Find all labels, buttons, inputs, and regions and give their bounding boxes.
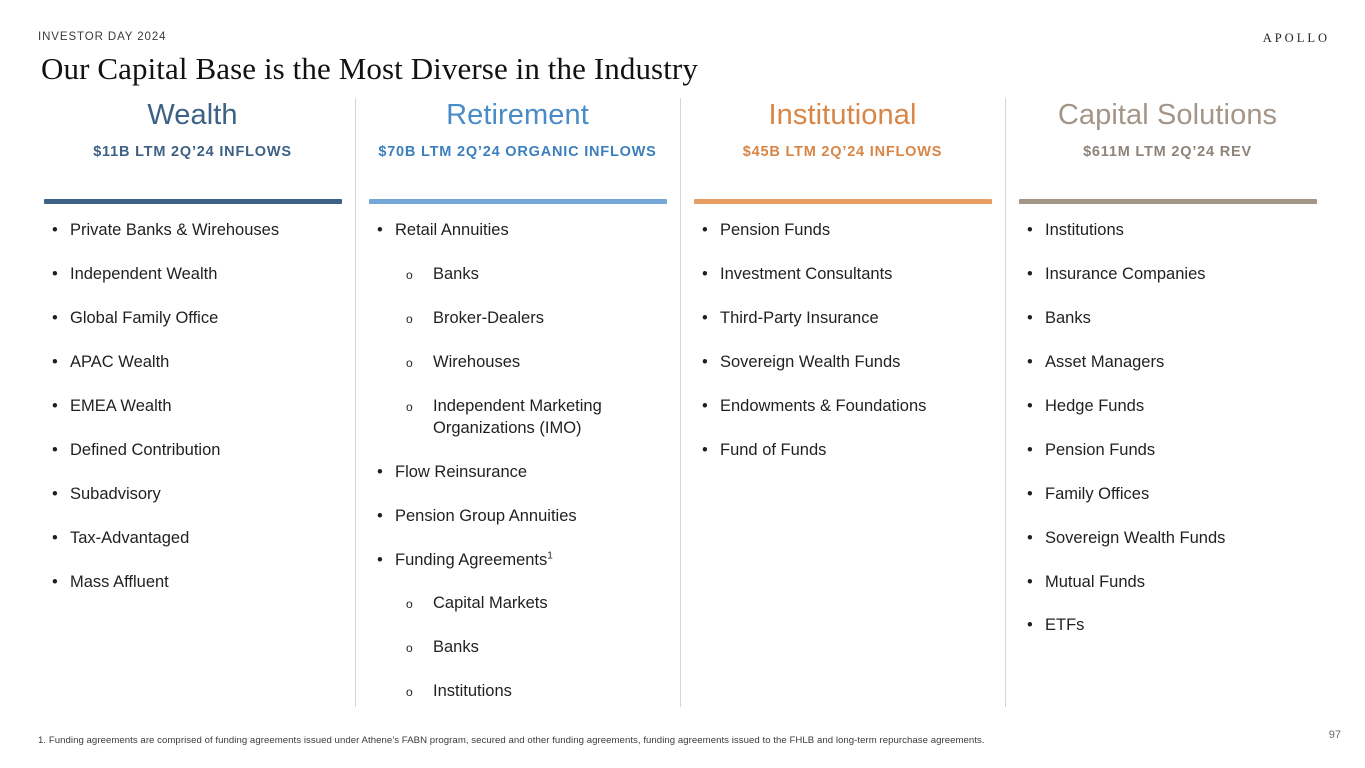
list-item: •Private Banks & Wirehouses — [38, 220, 347, 242]
list-item: •Mutual Funds — [1013, 572, 1322, 594]
sub-bullet-icon: o — [406, 682, 413, 704]
list-item: •Investment Consultants — [688, 264, 997, 286]
list-item-label: Insurance Companies — [1045, 265, 1206, 283]
list-item: •Retail Annuities — [363, 220, 672, 242]
column-capital-solutions: Capital Solutions$611M LTM 2Q’24 REV•Ins… — [1005, 98, 1330, 713]
list-item-label: Pension Funds — [720, 221, 830, 239]
list-item-label: Funding Agreements — [395, 551, 547, 569]
slide: INVESTOR DAY 2024 APOLLO Our Capital Bas… — [0, 0, 1365, 768]
sub-bullet-icon: o — [406, 265, 413, 287]
list-item-label: Investment Consultants — [720, 265, 892, 283]
bullet-icon: • — [702, 396, 708, 418]
list-item: oBanks — [363, 264, 672, 286]
list-item: •Sovereign Wealth Funds — [688, 352, 997, 374]
list-item-label: Hedge Funds — [1045, 397, 1144, 415]
list-item-label: Mass Affluent — [70, 573, 169, 591]
bullet-icon: • — [1027, 396, 1033, 418]
list-item: oBanks — [363, 637, 672, 659]
list-item-label: Banks — [1045, 309, 1091, 327]
bullet-icon: • — [52, 352, 58, 374]
column-header-wealth: Wealth$11B LTM 2Q’24 INFLOWS — [38, 98, 347, 204]
bullet-icon: • — [1027, 615, 1033, 637]
list-item-label: Retail Annuities — [395, 221, 509, 239]
page-number: 97 — [1329, 729, 1341, 741]
list-item-label: Sovereign Wealth Funds — [1045, 529, 1225, 547]
list-item-label: Banks — [433, 265, 479, 283]
column-header-institutional: Institutional$45B LTM 2Q’24 INFLOWS — [688, 98, 997, 204]
bullet-icon: • — [1027, 528, 1033, 550]
sub-bullet-icon: o — [406, 638, 413, 660]
column-list-capital-solutions: •Institutions•Insurance Companies•Banks•… — [1013, 220, 1322, 637]
list-item: •Tax-Advantaged — [38, 528, 347, 550]
column-rule-institutional — [694, 199, 992, 204]
bullet-icon: • — [52, 264, 58, 286]
list-item: •Endowments & Foundations — [688, 396, 997, 418]
list-item-label: Institutions — [1045, 221, 1124, 239]
list-item-label: APAC Wealth — [70, 353, 169, 371]
bullet-icon: • — [377, 220, 383, 242]
list-item: •Banks — [1013, 308, 1322, 330]
apollo-logo: APOLLO — [1263, 31, 1330, 46]
bullet-icon: • — [702, 352, 708, 374]
list-item: •Pension Funds — [1013, 440, 1322, 462]
list-item: •Asset Managers — [1013, 352, 1322, 374]
list-item-label: Broker-Dealers — [433, 309, 544, 327]
list-item-label: Institutions — [433, 682, 512, 700]
list-item: •Defined Contribution — [38, 440, 347, 462]
list-item: •Funding Agreements1 — [363, 550, 672, 572]
column-list-retirement: •Retail AnnuitiesoBanksoBroker-DealersoW… — [363, 220, 672, 703]
sub-bullet-icon: o — [406, 353, 413, 375]
list-item-label: Banks — [433, 638, 479, 656]
bullet-icon: • — [1027, 308, 1033, 330]
list-item-label: Wirehouses — [433, 353, 520, 371]
bullet-icon: • — [702, 220, 708, 242]
bullet-icon: • — [1027, 572, 1033, 594]
list-item-label: Capital Markets — [433, 594, 548, 612]
bullet-icon: • — [702, 440, 708, 462]
list-item: •Flow Reinsurance — [363, 462, 672, 484]
list-item: oBroker-Dealers — [363, 308, 672, 330]
list-item: •Independent Wealth — [38, 264, 347, 286]
column-title-institutional: Institutional — [688, 98, 997, 132]
bullet-icon: • — [377, 506, 383, 528]
bullet-icon: • — [52, 440, 58, 462]
bullet-icon: • — [377, 550, 383, 572]
sub-bullet-icon: o — [406, 594, 413, 616]
list-item-label: Third-Party Insurance — [720, 309, 879, 327]
list-item-label: Family Offices — [1045, 485, 1149, 503]
list-item: •Family Offices — [1013, 484, 1322, 506]
list-item: •APAC Wealth — [38, 352, 347, 374]
list-item: oIndependent Marketing Organizations (IM… — [363, 396, 672, 440]
column-rule-wealth — [44, 199, 342, 204]
list-item: •Sovereign Wealth Funds — [1013, 528, 1322, 550]
bullet-icon: • — [1027, 220, 1033, 242]
footnote-marker: 1 — [547, 550, 553, 561]
list-item: •Fund of Funds — [688, 440, 997, 462]
list-item-label: Independent Marketing Organizations (IMO… — [433, 397, 602, 437]
bullet-icon: • — [52, 308, 58, 330]
page-title: Our Capital Base is the Most Diverse in … — [41, 51, 698, 87]
columns-container: Wealth$11B LTM 2Q’24 INFLOWS•Private Ban… — [30, 98, 1335, 713]
column-institutional: Institutional$45B LTM 2Q’24 INFLOWS•Pens… — [680, 98, 1005, 713]
list-item-label: Tax-Advantaged — [70, 529, 189, 547]
list-item: •Institutions — [1013, 220, 1322, 242]
column-metric-institutional: $45B LTM 2Q’24 INFLOWS — [688, 144, 997, 162]
list-item-label: Flow Reinsurance — [395, 463, 527, 481]
column-title-capital-solutions: Capital Solutions — [1013, 98, 1322, 132]
column-header-capital-solutions: Capital Solutions$611M LTM 2Q’24 REV — [1013, 98, 1322, 204]
column-rule-capital-solutions — [1019, 199, 1317, 204]
list-item: •Hedge Funds — [1013, 396, 1322, 418]
list-item-label: ETFs — [1045, 616, 1084, 634]
list-item: •Insurance Companies — [1013, 264, 1322, 286]
bullet-icon: • — [1027, 484, 1033, 506]
bullet-icon: • — [52, 528, 58, 550]
list-item-label: Independent Wealth — [70, 265, 217, 283]
list-item: oInstitutions — [363, 681, 672, 703]
column-title-retirement: Retirement — [363, 98, 672, 132]
bullet-icon: • — [1027, 440, 1033, 462]
sub-bullet-icon: o — [406, 397, 413, 419]
column-retirement: Retirement$70B LTM 2Q’24 ORGANIC INFLOWS… — [355, 98, 680, 713]
bullet-icon: • — [52, 220, 58, 242]
sub-bullet-icon: o — [406, 309, 413, 331]
column-wealth: Wealth$11B LTM 2Q’24 INFLOWS•Private Ban… — [30, 98, 355, 713]
list-item: •Global Family Office — [38, 308, 347, 330]
column-title-wealth: Wealth — [38, 98, 347, 132]
column-metric-wealth: $11B LTM 2Q’24 INFLOWS — [38, 144, 347, 162]
list-item-label: EMEA Wealth — [70, 397, 172, 415]
column-list-institutional: •Pension Funds•Investment Consultants•Th… — [688, 220, 997, 462]
bullet-icon: • — [702, 264, 708, 286]
column-rule-retirement — [369, 199, 667, 204]
list-item-label: Private Banks & Wirehouses — [70, 221, 279, 239]
column-header-retirement: Retirement$70B LTM 2Q’24 ORGANIC INFLOWS — [363, 98, 672, 204]
bullet-icon: • — [377, 462, 383, 484]
bullet-icon: • — [1027, 264, 1033, 286]
footnote-text: 1. Funding agreements are comprised of f… — [38, 735, 985, 746]
list-item: oCapital Markets — [363, 593, 672, 615]
list-item: •Subadvisory — [38, 484, 347, 506]
list-item: oWirehouses — [363, 352, 672, 374]
list-item: •ETFs — [1013, 615, 1322, 637]
column-metric-retirement: $70B LTM 2Q’24 ORGANIC INFLOWS — [363, 144, 672, 162]
list-item-label: Pension Funds — [1045, 441, 1155, 459]
list-item-label: Asset Managers — [1045, 353, 1164, 371]
bullet-icon: • — [52, 484, 58, 506]
list-item-label: Global Family Office — [70, 309, 218, 327]
list-item-label: Fund of Funds — [720, 441, 826, 459]
bullet-icon: • — [52, 396, 58, 418]
eyebrow-label: INVESTOR DAY 2024 — [38, 31, 166, 43]
list-item-label: Endowments & Foundations — [720, 397, 926, 415]
list-item: •Pension Group Annuities — [363, 506, 672, 528]
list-item-label: Sovereign Wealth Funds — [720, 353, 900, 371]
bullet-icon: • — [702, 308, 708, 330]
list-item: •Pension Funds — [688, 220, 997, 242]
bullet-icon: • — [52, 572, 58, 594]
list-item-label: Pension Group Annuities — [395, 507, 577, 525]
bullet-icon: • — [1027, 352, 1033, 374]
list-item: •EMEA Wealth — [38, 396, 347, 418]
list-item-label: Mutual Funds — [1045, 573, 1145, 591]
list-item-label: Defined Contribution — [70, 441, 220, 459]
list-item-label: Subadvisory — [70, 485, 161, 503]
column-metric-capital-solutions: $611M LTM 2Q’24 REV — [1013, 144, 1322, 162]
list-item: •Mass Affluent — [38, 572, 347, 594]
list-item: •Third-Party Insurance — [688, 308, 997, 330]
column-list-wealth: •Private Banks & Wirehouses•Independent … — [38, 220, 347, 593]
